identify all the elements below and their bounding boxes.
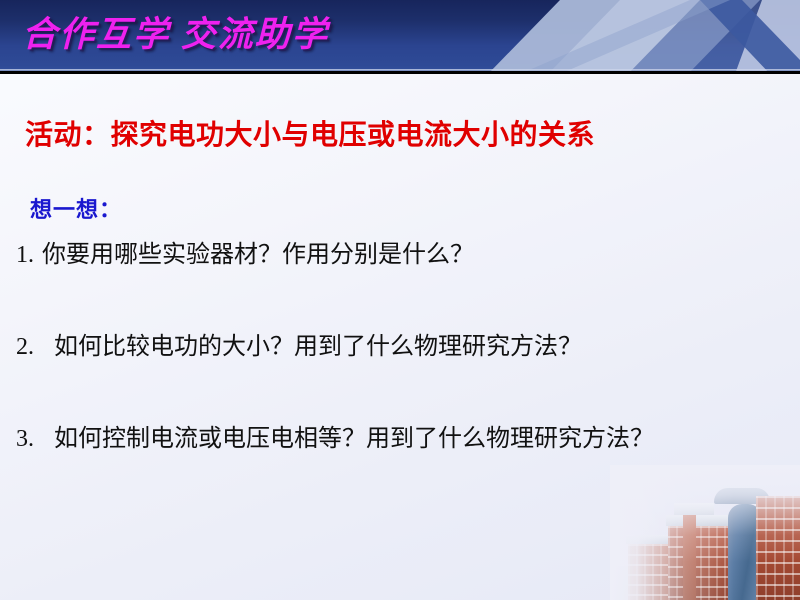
question-number: 2. bbox=[16, 332, 54, 362]
think-subheading: 想一想： bbox=[30, 192, 122, 224]
list-item: 3.如何控制电流或电压电相等？用到了什么物理研究方法？ bbox=[16, 424, 786, 454]
slide-canvas: 合作互学 交流助学 活动：探究电功大小与电压或电流大小的关系 想一想： 1.你要… bbox=[0, 0, 800, 600]
question-text: 如何比较电功的大小？用到了什么物理研究方法？ bbox=[54, 334, 582, 360]
photo-fade-top bbox=[610, 465, 800, 600]
banner-black-bar bbox=[0, 71, 800, 74]
activity-heading: 活动：探究电功大小与电压或电流大小的关系 bbox=[25, 113, 595, 153]
question-number: 3. bbox=[16, 424, 54, 454]
list-item: 1.你要用哪些实验器材？作用分别是什么？ bbox=[16, 240, 786, 270]
slide-banner: 合作互学 交流助学 bbox=[0, 0, 800, 74]
question-text: 你要用哪些实验器材？作用分别是什么？ bbox=[42, 242, 474, 268]
question-number: 1. bbox=[16, 240, 42, 270]
question-text: 如何控制电流或电压电相等？用到了什么物理研究方法？ bbox=[54, 426, 654, 452]
campus-building-photo bbox=[610, 465, 800, 600]
banner-title: 合作互学 交流助学 bbox=[22, 6, 329, 57]
list-item: 2.如何比较电功的大小？用到了什么物理研究方法？ bbox=[16, 332, 786, 362]
question-list: 1.你要用哪些实验器材？作用分别是什么？ 2.如何比较电功的大小？用到了什么物理… bbox=[16, 240, 786, 454]
